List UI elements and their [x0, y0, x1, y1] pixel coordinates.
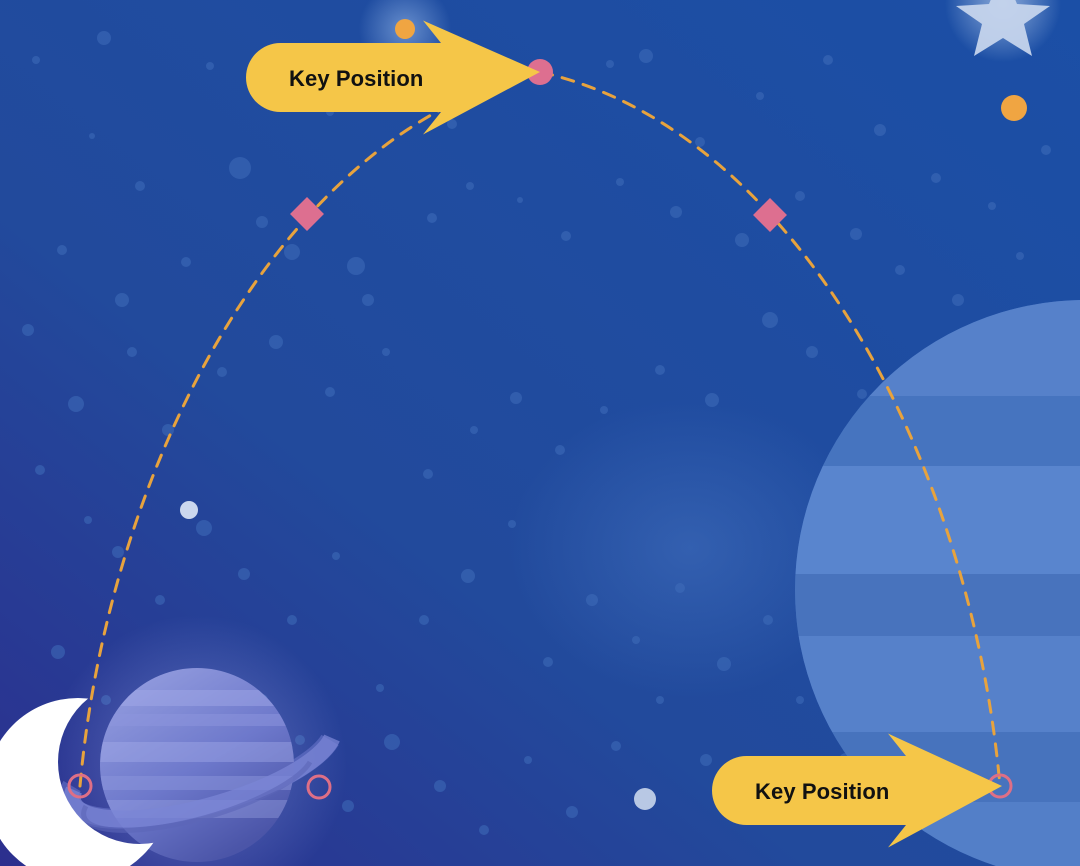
key-position-arrow-top[interactable]	[246, 21, 540, 135]
key-position-arrow-bottom[interactable]	[712, 734, 1002, 848]
ground-point[interactable]	[308, 776, 330, 798]
callout-arrows	[246, 21, 1002, 848]
trajectory-path	[80, 72, 1000, 786]
trajectory-markers	[69, 59, 1011, 798]
space-trajectory-scene: Key Position Key Position	[0, 0, 1080, 866]
ascend-marker[interactable]	[290, 197, 324, 231]
annotation-layer	[0, 0, 1080, 866]
